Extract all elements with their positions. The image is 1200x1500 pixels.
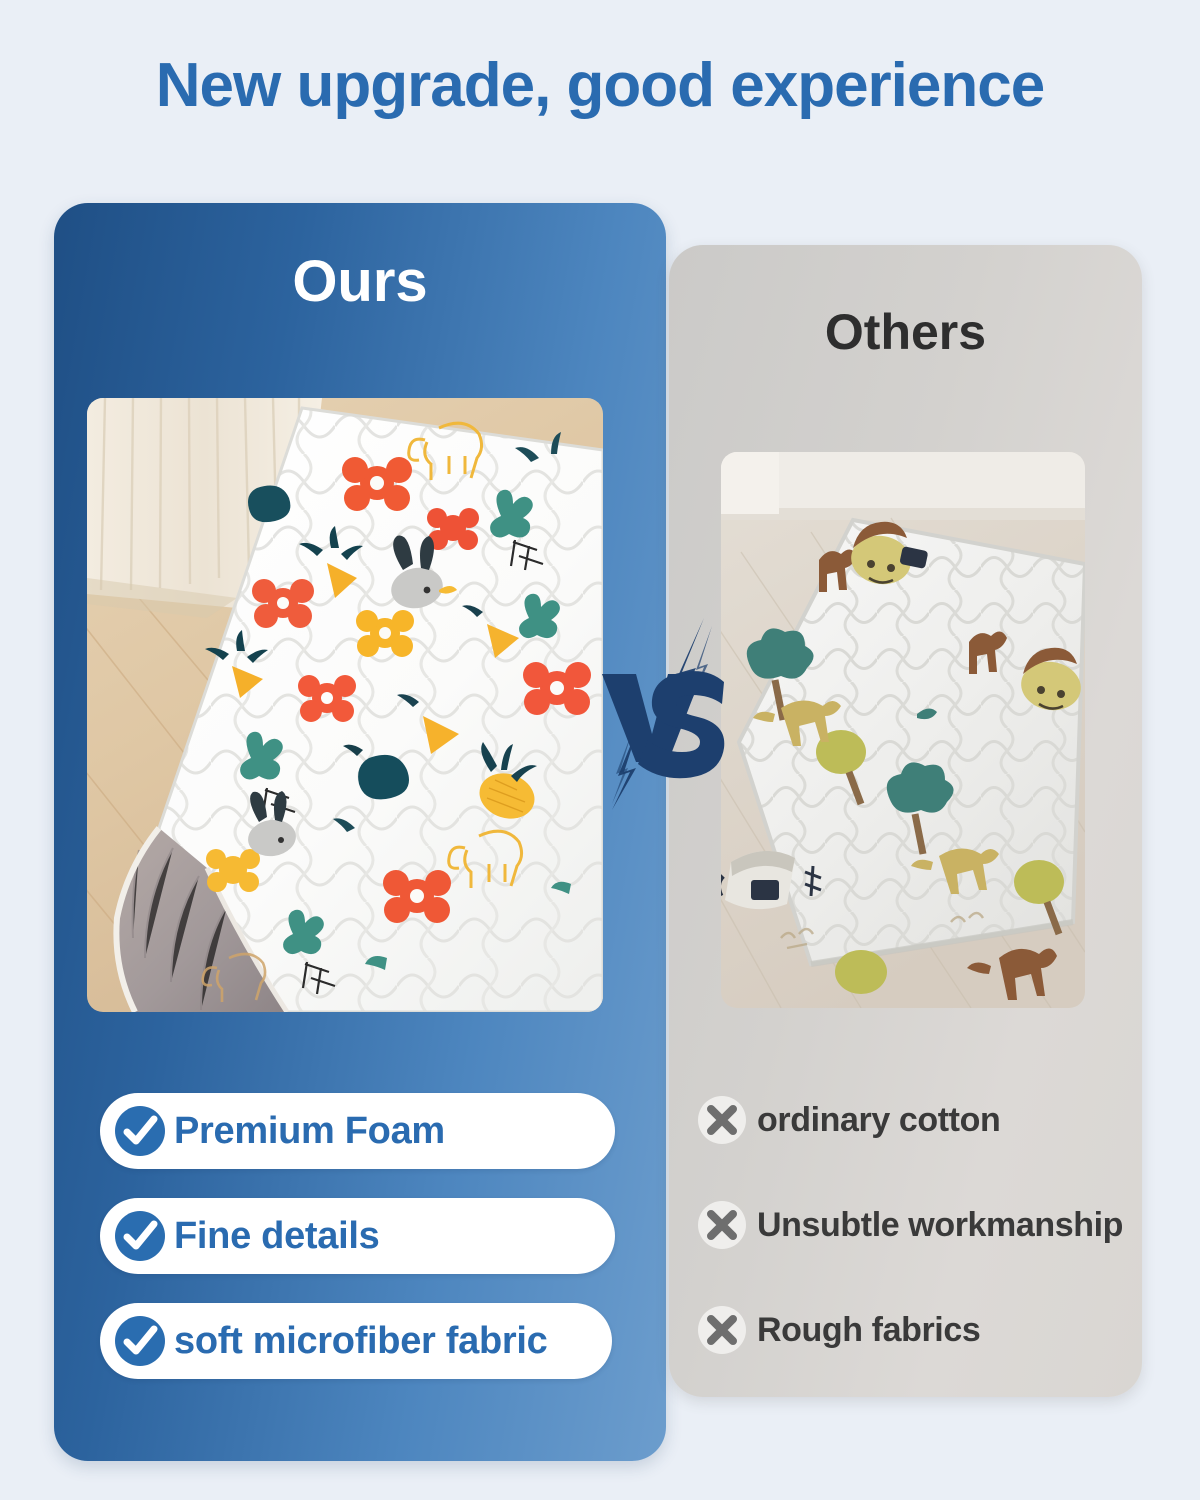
ours-feature-label: Premium Foam — [174, 1110, 445, 1153]
ours-feature-label: soft microfiber fabric — [174, 1320, 547, 1363]
check-circle-icon — [114, 1105, 166, 1157]
x-circle-icon — [697, 1305, 747, 1355]
others-drawback-label: Unsubtle workmanship — [757, 1206, 1123, 1245]
others-drawback-item[interactable]: Unsubtle workmanship — [697, 1197, 1137, 1253]
ours-feature-item[interactable]: Fine details — [100, 1198, 615, 1274]
others-drawback-label: Rough fabrics — [757, 1311, 980, 1350]
ours-feature-item[interactable]: Premium Foam — [100, 1093, 615, 1169]
x-circle-icon — [697, 1095, 747, 1145]
ours-feature-label: Fine details — [174, 1215, 379, 1258]
others-drawback-item[interactable]: ordinary cotton — [697, 1092, 1137, 1148]
x-circle-icon — [697, 1200, 747, 1250]
others-product-photo — [721, 452, 1085, 1008]
ours-heading: Ours — [54, 248, 666, 315]
ours-product-photo — [87, 398, 603, 1012]
others-drawback-label: ordinary cotton — [757, 1101, 1000, 1140]
others-heading: Others — [669, 303, 1142, 361]
check-circle-icon — [114, 1210, 166, 1262]
comparison-section: Ours — [0, 0, 1200, 1500]
ours-feature-item[interactable]: soft microfiber fabric — [100, 1303, 612, 1379]
versus-badge — [592, 612, 742, 812]
others-drawback-item[interactable]: Rough fabrics — [697, 1302, 1137, 1358]
ours-feature-list: Premium Foam Fine details soft microfibe… — [100, 1093, 620, 1408]
others-drawback-list: ordinary cotton Unsubtle workmanship Rou… — [697, 1092, 1137, 1407]
check-circle-icon — [114, 1315, 166, 1367]
